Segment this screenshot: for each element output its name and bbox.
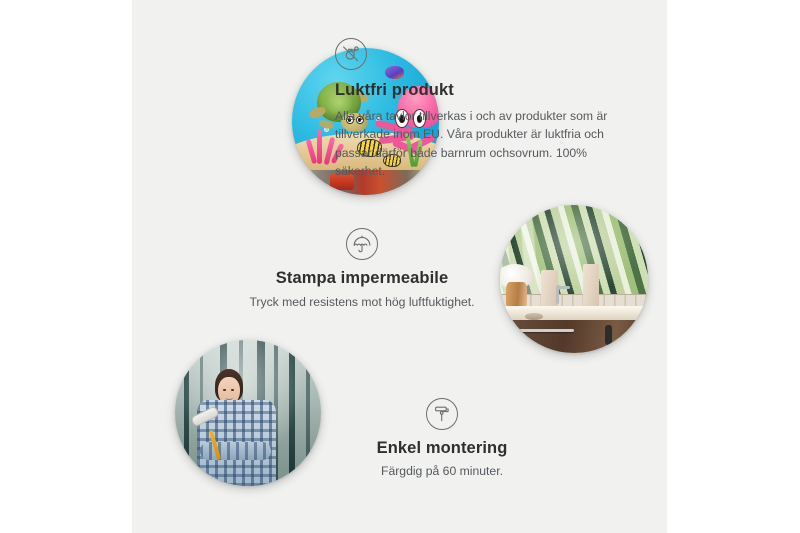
screenshot-root: Luktfri produkt Alla våra tavlor tillver… xyxy=(0,0,800,533)
wooden-cabinet xyxy=(503,320,648,353)
countertop xyxy=(500,306,648,322)
feature-block-enkel-montering: Enkel montering Färgdig på 60 minuter. xyxy=(317,398,567,480)
forest-mural-scene xyxy=(175,340,321,486)
feature-description: Tryck med resistens mot hög luftfuktighe… xyxy=(202,293,522,312)
no-odour-spray-bottle-icon xyxy=(335,38,367,70)
feature-description: Färgdig på 60 minuter. xyxy=(317,462,567,481)
feature-block-luktfri-produkt: Luktfri produkt Alla våra tavlor tillver… xyxy=(335,38,635,181)
product-photo-woman-with-paint-roller[interactable] xyxy=(175,340,321,486)
umbrella-icon xyxy=(346,228,378,260)
faucet-icon xyxy=(556,286,559,304)
woman-figure xyxy=(195,369,277,486)
bathroom-scene xyxy=(500,205,648,353)
content-panel: Luktfri produkt Alla våra tavlor tillver… xyxy=(132,0,667,533)
feature-description: Alla våra tavlor tillverkas i och av pro… xyxy=(335,107,635,181)
feature-title: Stampa impermeabile xyxy=(202,268,522,289)
paint-roller-icon xyxy=(426,398,458,430)
decor-box xyxy=(583,264,599,308)
feature-block-stampa-impermeabile: Stampa impermeabile Tryck med resistens … xyxy=(202,228,522,311)
feature-title: Enkel montering xyxy=(317,438,567,459)
product-photo-bathroom-tropical-wallpaper[interactable] xyxy=(500,205,648,353)
feature-title: Luktfri produkt xyxy=(335,80,635,101)
